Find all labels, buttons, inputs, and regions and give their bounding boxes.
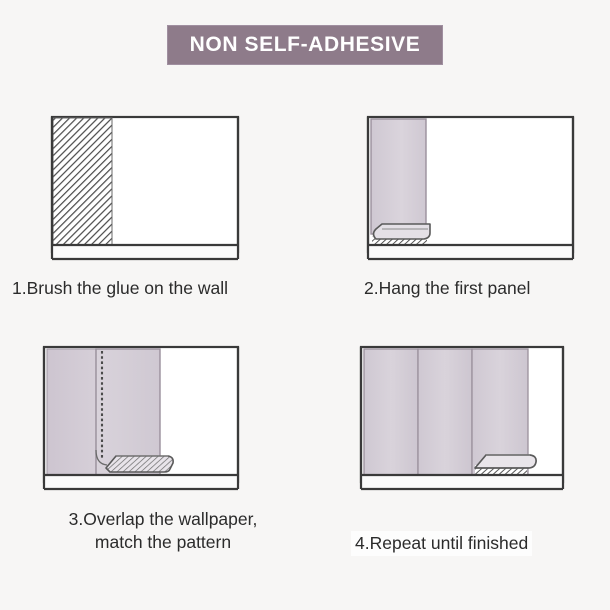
step-3: 3.Overlap the wallpaper, match the patte… [8, 338, 288, 554]
repeat-until-finished-diagram [345, 338, 585, 498]
glue-hatching [53, 118, 112, 245]
step-2-caption: 2.Hang the first panel [364, 277, 583, 300]
step-3-illustration [8, 338, 248, 498]
instruction-sheet: NON SELF-ADHESIVE [0, 0, 610, 610]
step-4-caption-wrap: 4.Repeat until finished [351, 508, 585, 556]
wallpaper-curl [374, 224, 431, 239]
step-2-illustration [358, 108, 583, 268]
wallpaper-panel [371, 119, 426, 234]
step-1-caption: 1.Brush the glue on the wall [12, 277, 248, 300]
wallpaper-panel-left [47, 349, 96, 475]
step-3-caption: 3.Overlap the wallpaper, match the patte… [38, 508, 288, 554]
header-banner: NON SELF-ADHESIVE [168, 26, 443, 64]
header-banner-container: NON SELF-ADHESIVE [0, 26, 610, 64]
floor-band [44, 475, 238, 489]
hang-first-panel-diagram [358, 108, 583, 268]
wallpaper-panel-2 [418, 349, 472, 475]
wallpaper-curl [475, 455, 536, 468]
wallpaper-panel-1 [364, 349, 418, 475]
overlap-wallpaper-diagram [8, 338, 288, 498]
step-1: 1.Brush the glue on the wall [8, 108, 248, 300]
floor-band [368, 245, 573, 259]
brush-glue-diagram [8, 108, 248, 268]
step-4-illustration [345, 338, 585, 498]
floor-band [361, 475, 563, 489]
wallpaper-curl [106, 456, 173, 472]
step-4-caption: 4.Repeat until finished [351, 531, 532, 556]
step-4: 4.Repeat until finished [345, 338, 585, 556]
floor-band [52, 245, 238, 259]
step-2: 2.Hang the first panel [358, 108, 583, 300]
step-1-illustration [8, 108, 248, 268]
